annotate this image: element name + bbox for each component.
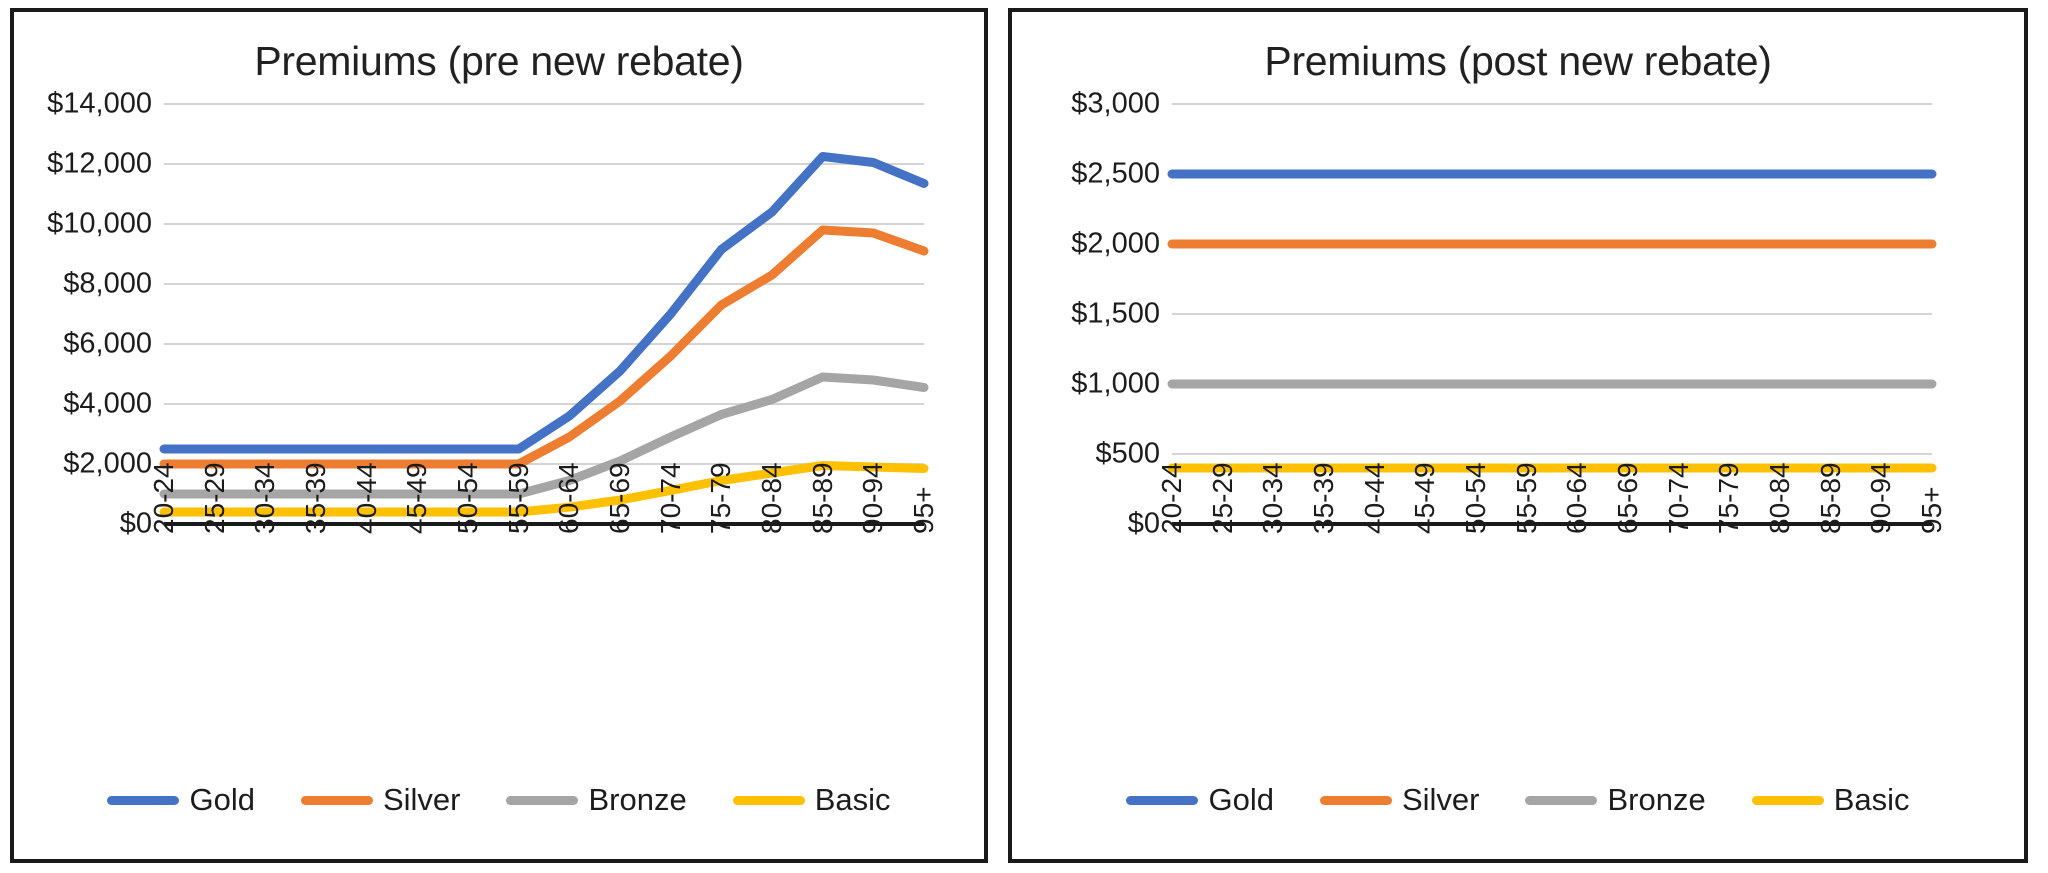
y-axis-tick-label: $500 [1095,438,1160,471]
x-axis-tick-label: 50-54 [1460,462,1492,534]
legend-label: Basic [815,782,891,818]
legend-label: Bronze [1607,782,1705,818]
x-axis-tick-label: 60-64 [1561,462,1593,534]
y-axis-tick-label: $3,000 [1071,88,1160,121]
plot-area-post [1172,104,1932,524]
legend-item-bronze[interactable]: Bronze [506,782,686,818]
x-axis-tick-label: 85-89 [1815,462,1847,534]
legend-pre: GoldSilverBronzeBasic [14,782,984,818]
y-axis-tick-label: $4,000 [63,388,152,421]
x-axis-tick-label: 80-84 [1764,462,1796,534]
x-axis-tick-label: 40-44 [351,462,383,534]
x-axis-tick-label: 75-79 [705,462,737,534]
chart-card-pre: Premiums (pre new rebate) $14,000$12,000… [10,8,988,863]
legend-swatch-icon [506,796,578,805]
y-axis-tick-label: $14,000 [47,88,152,121]
legend-label: Basic [1834,782,1910,818]
legend-swatch-icon [107,796,179,805]
x-axis-tick-label: 25-29 [1207,462,1239,534]
y-axis-tick-label: $2,000 [1071,228,1160,261]
y-axis-tick-label: $2,000 [63,448,152,481]
legend-item-gold[interactable]: Gold [1126,782,1273,818]
x-axis-tick-label: 90-94 [857,462,889,534]
legend-item-basic[interactable]: Basic [1752,782,1910,818]
x-axis-tick-label: 30-34 [249,462,281,534]
legend-swatch-icon [733,796,805,805]
y-axis-tick-label: $12,000 [47,148,152,181]
legend-swatch-icon [1126,796,1198,805]
series-lines-post [1172,104,1932,524]
chart-title-post: Premiums (post new rebate) [1012,38,2024,85]
legend-label: Silver [383,782,461,818]
series-line-gold [164,157,924,450]
y-axis-tick-label: $2,500 [1071,158,1160,191]
plot-area-pre [164,104,924,524]
legend-item-bronze[interactable]: Bronze [1525,782,1705,818]
series-lines-pre [164,104,924,524]
legend-label: Bronze [588,782,686,818]
chart-title-pre: Premiums (pre new rebate) [14,38,984,85]
x-axis-tick-label: 20-24 [148,462,180,534]
legend-item-silver[interactable]: Silver [301,782,461,818]
y-axis-tick-label: $8,000 [63,268,152,301]
y-axis-tick-label: $1,500 [1071,298,1160,331]
legend-swatch-icon [1320,796,1392,805]
y-axis-labels-post: $3,000$2,500$2,000$1,500$1,000$500$0 [1012,104,1160,524]
x-axis-tick-label: 35-39 [1308,462,1340,534]
x-axis-tick-label: 20-24 [1156,462,1188,534]
x-axis-labels-post: 20-2425-2930-3435-3940-4445-4950-5455-59… [1172,534,1932,664]
x-axis-tick-label: 55-59 [1511,462,1543,534]
x-axis-tick-label: 25-29 [199,462,231,534]
x-axis-tick-label: 45-49 [1409,462,1441,534]
x-axis-tick-label: 90-94 [1865,462,1897,534]
legend-item-basic[interactable]: Basic [733,782,891,818]
legend-swatch-icon [301,796,373,805]
x-axis-tick-label: 30-34 [1257,462,1289,534]
x-axis-tick-label: 70-74 [655,462,687,534]
y-axis-tick-label: $10,000 [47,208,152,241]
x-axis-tick-label: 95+ [908,487,940,535]
x-axis-tick-label: 45-49 [401,462,433,534]
x-axis-tick-label: 55-59 [503,462,535,534]
y-axis-labels-pre: $14,000$12,000$10,000$8,000$6,000$4,000$… [14,104,152,524]
legend-swatch-icon [1525,796,1597,805]
legend-label: Gold [1208,782,1273,818]
x-axis-tick-label: 65-69 [604,462,636,534]
x-axis-tick-label: 65-69 [1612,462,1644,534]
x-axis-labels-pre: 20-2425-2930-3435-3940-4445-4950-5455-59… [164,534,924,664]
legend-label: Gold [189,782,254,818]
legend-item-silver[interactable]: Silver [1320,782,1480,818]
x-axis-tick-label: 35-39 [300,462,332,534]
x-axis-tick-label: 95+ [1916,487,1948,535]
legend-swatch-icon [1752,796,1824,805]
x-axis-tick-label: 60-64 [553,462,585,534]
x-axis-tick-label: 80-84 [756,462,788,534]
legend-item-gold[interactable]: Gold [107,782,254,818]
x-axis-tick-label: 75-79 [1713,462,1745,534]
legend-label: Silver [1402,782,1480,818]
x-axis-tick-label: 40-44 [1359,462,1391,534]
x-axis-tick-label: 85-89 [807,462,839,534]
x-axis-tick-label: 70-74 [1663,462,1695,534]
y-axis-tick-label: $1,000 [1071,368,1160,401]
charts-board: Premiums (pre new rebate) $14,000$12,000… [0,0,2048,873]
y-axis-tick-label: $6,000 [63,328,152,361]
legend-post: GoldSilverBronzeBasic [1012,782,2024,818]
x-axis-tick-label: 50-54 [452,462,484,534]
chart-card-post: Premiums (post new rebate) $3,000$2,500$… [1008,8,2028,863]
